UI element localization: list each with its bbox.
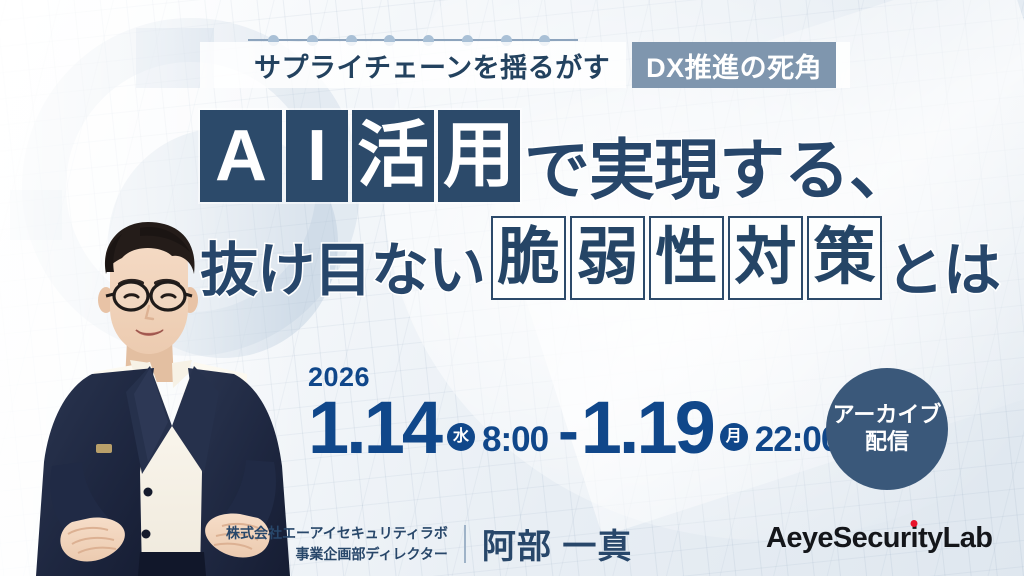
headline-box-char: 弱 — [570, 216, 645, 300]
headline: A I 活 用 で実現する、 抜け目ない 脆 弱 性 対 策 とは — [200, 110, 1000, 300]
event-end-date: 1.19 — [581, 395, 713, 460]
logo-part-2: tyLab — [918, 522, 992, 554]
end-dayofweek-badge: 月 — [720, 423, 748, 451]
webinar-banner: サプライチェーンを揺るがす DX推進の死角 A I 活 用 で実現する、 抜け目… — [0, 0, 1024, 576]
logo-letter-i-with-dot: i — [911, 522, 918, 554]
speaker-title: 事業企画部ディレクター — [226, 544, 448, 565]
speaker-info: 株式会社エーアイセキュリティラボ 事業企画部ディレクター 阿部 一真 — [226, 519, 632, 568]
subtitle-main-text: サプライチェーンを揺るがす — [200, 42, 626, 88]
speaker-divider — [464, 525, 466, 563]
subtitle-tag-badge: DX推進の死角 — [632, 42, 836, 88]
speaker-company: 株式会社エーアイセキュリティラボ — [226, 523, 448, 544]
headline-line-2-tail: とは — [886, 242, 1000, 300]
headline-line-2-lead: 抜け目ない — [200, 238, 485, 303]
headline-line-1-tail: で実現する、 — [524, 139, 914, 202]
start-dayofweek-badge: 水 — [447, 423, 475, 451]
date-range-separator: - — [558, 413, 579, 450]
headline-box-char: A — [200, 110, 282, 202]
event-start-time: 8:00 — [482, 424, 548, 456]
dot-rule-line — [248, 39, 578, 41]
speaker-name: 阿部 一真 — [482, 519, 632, 568]
speaker-organization: 株式会社エーアイセキュリティラボ 事業企画部ディレクター — [226, 523, 448, 565]
headline-box-char: 活 — [352, 110, 434, 202]
headline-line-2: 抜け目ない 脆 弱 性 対 策 とは — [200, 216, 1000, 300]
headline-line-1: A I 活 用 で実現する、 — [200, 110, 1000, 202]
headline-box-char: 策 — [807, 216, 882, 300]
headline-highlighted-text: 抜け目ない — [200, 242, 491, 300]
headline-box-char: 用 — [438, 110, 520, 202]
event-date-range: 1.14 水 8:00 - 1.19 月 22:00 — [308, 395, 839, 460]
subtitle-tail — [836, 42, 850, 88]
event-date-block: 2026 1.14 水 8:00 - 1.19 月 22:00 — [308, 364, 839, 460]
headline-box-char: 脆 — [491, 216, 566, 300]
headline-box-char: 性 — [649, 216, 724, 300]
logo-part-1: AeyeSecur — [766, 522, 911, 554]
archive-badge-line-1: アーカイブ — [833, 402, 942, 429]
subtitle-row: サプライチェーンを揺るがす DX推進の死角 — [200, 42, 850, 88]
company-logo: AeyeSecurityLab — [766, 522, 992, 555]
archive-badge-line-2: 配信 — [865, 429, 909, 456]
archive-delivery-badge: アーカイブ 配信 — [826, 368, 948, 490]
event-start-date: 1.14 — [308, 395, 440, 460]
headline-box-char: 対 — [728, 216, 803, 300]
headline-box-char: I — [286, 110, 348, 202]
